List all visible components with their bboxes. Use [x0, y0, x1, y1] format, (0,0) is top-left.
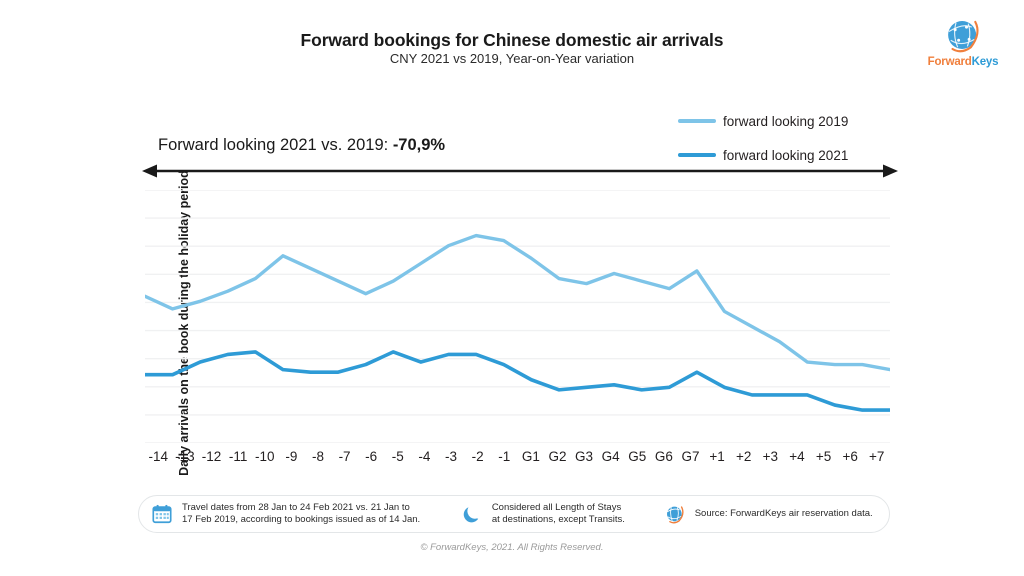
period-span-arrow — [140, 158, 900, 184]
x-tick-label: +6 — [837, 446, 864, 468]
footnote-source-line1: Source: ForwardKeys air reservation data… — [695, 508, 873, 520]
x-tick-label: -3 — [438, 446, 465, 468]
page-subtitle: CNY 2021 vs 2019, Year-on-Year variation — [0, 51, 1024, 66]
x-tick-label: G7 — [677, 446, 704, 468]
footnote-length-of-stays-line1: Considered all Length of Stays — [492, 502, 625, 514]
x-tick-label: -10 — [251, 446, 278, 468]
x-tick-label: -1 — [491, 446, 518, 468]
x-tick-label: G4 — [597, 446, 624, 468]
footnote-travel-dates-text: Travel dates from 28 Jan to 24 Feb 2021 … — [182, 502, 420, 526]
x-tick-label: +1 — [704, 446, 731, 468]
legend-item-2019[interactable]: forward looking 2019 — [678, 104, 898, 138]
page-title: Forward bookings for Chinese domestic ai… — [0, 30, 1024, 51]
footnote-length-of-stays-line2: at destinations, except Transits. — [492, 514, 625, 526]
series-line-2021 — [145, 352, 890, 410]
footnote-travel-dates-line2: 17 Feb 2019, according to bookings issue… — [182, 514, 420, 526]
x-tick-label: -6 — [358, 446, 385, 468]
globe-icon — [664, 503, 686, 525]
x-tick-label: -5 — [384, 446, 411, 468]
x-tick-label: G5 — [624, 446, 651, 468]
y-axis-title-holder: Daily arrivals on the book during the ho… — [98, 140, 122, 460]
footnotes-bar: Travel dates from 28 Jan to 24 Feb 2021 … — [138, 495, 890, 533]
legend-swatch-2021 — [678, 153, 716, 157]
x-tick-label: -13 — [172, 446, 199, 468]
gridlines — [145, 190, 890, 443]
x-tick-label: -9 — [278, 446, 305, 468]
footnote-length-of-stays-text: Considered all Length of Stays at destin… — [492, 502, 625, 526]
x-tick-label: G1 — [518, 446, 545, 468]
x-tick-label: +5 — [810, 446, 837, 468]
logo-wordmark: ForwardKeys — [920, 56, 1006, 68]
x-tick-label: +7 — [863, 446, 890, 468]
footnote-length-of-stays: Considered all Length of Stays at destin… — [449, 502, 652, 526]
globe-logo-icon — [942, 14, 984, 56]
x-tick-label: -12 — [198, 446, 225, 468]
x-tick-label: -4 — [411, 446, 438, 468]
x-tick-label: G3 — [571, 446, 598, 468]
x-tick-label: -14 — [145, 446, 172, 468]
variation-annotation-value: -70,9% — [393, 136, 445, 154]
x-tick-label: -11 — [225, 446, 252, 468]
calendar-icon — [151, 503, 173, 525]
legend-label-2019: forward looking 2019 — [723, 114, 848, 129]
x-axis-tick-labels: -14-13-12-11-10-9-8-7-6-5-4-3-2-1G1G2G3G… — [145, 446, 890, 468]
moon-icon — [461, 503, 483, 525]
x-tick-label: -2 — [464, 446, 491, 468]
x-tick-label: G6 — [651, 446, 678, 468]
footnote-source: Source: ForwardKeys air reservation data… — [652, 503, 889, 525]
chart-header: Forward bookings for Chinese domestic ai… — [0, 0, 1024, 86]
logo-word-keys: Keys — [972, 56, 999, 68]
x-tick-label: +4 — [784, 446, 811, 468]
logo-word-forward: Forward — [928, 56, 972, 68]
double-arrow-icon — [140, 158, 900, 184]
footnote-travel-dates-line1: Travel dates from 28 Jan to 24 Feb 2021 … — [182, 502, 420, 514]
forwardkeys-logo: ForwardKeys — [920, 14, 1006, 76]
legend-swatch-2019 — [678, 119, 716, 123]
x-tick-label: G2 — [544, 446, 571, 468]
x-tick-label: +2 — [730, 446, 757, 468]
x-tick-label: -8 — [305, 446, 332, 468]
chart-plot-area — [145, 190, 890, 443]
footnote-source-text: Source: ForwardKeys air reservation data… — [695, 508, 873, 520]
x-tick-label: +3 — [757, 446, 784, 468]
copyright-text: © ForwardKeys, 2021. All Rights Reserved… — [0, 542, 1024, 553]
line-chart — [145, 190, 890, 443]
variation-annotation: Forward looking 2021 vs. 2019: -70,9% — [158, 136, 445, 155]
x-tick-label: -7 — [331, 446, 358, 468]
footnote-travel-dates: Travel dates from 28 Jan to 24 Feb 2021 … — [139, 502, 449, 526]
variation-annotation-prefix: Forward looking 2021 vs. 2019: — [158, 136, 393, 154]
